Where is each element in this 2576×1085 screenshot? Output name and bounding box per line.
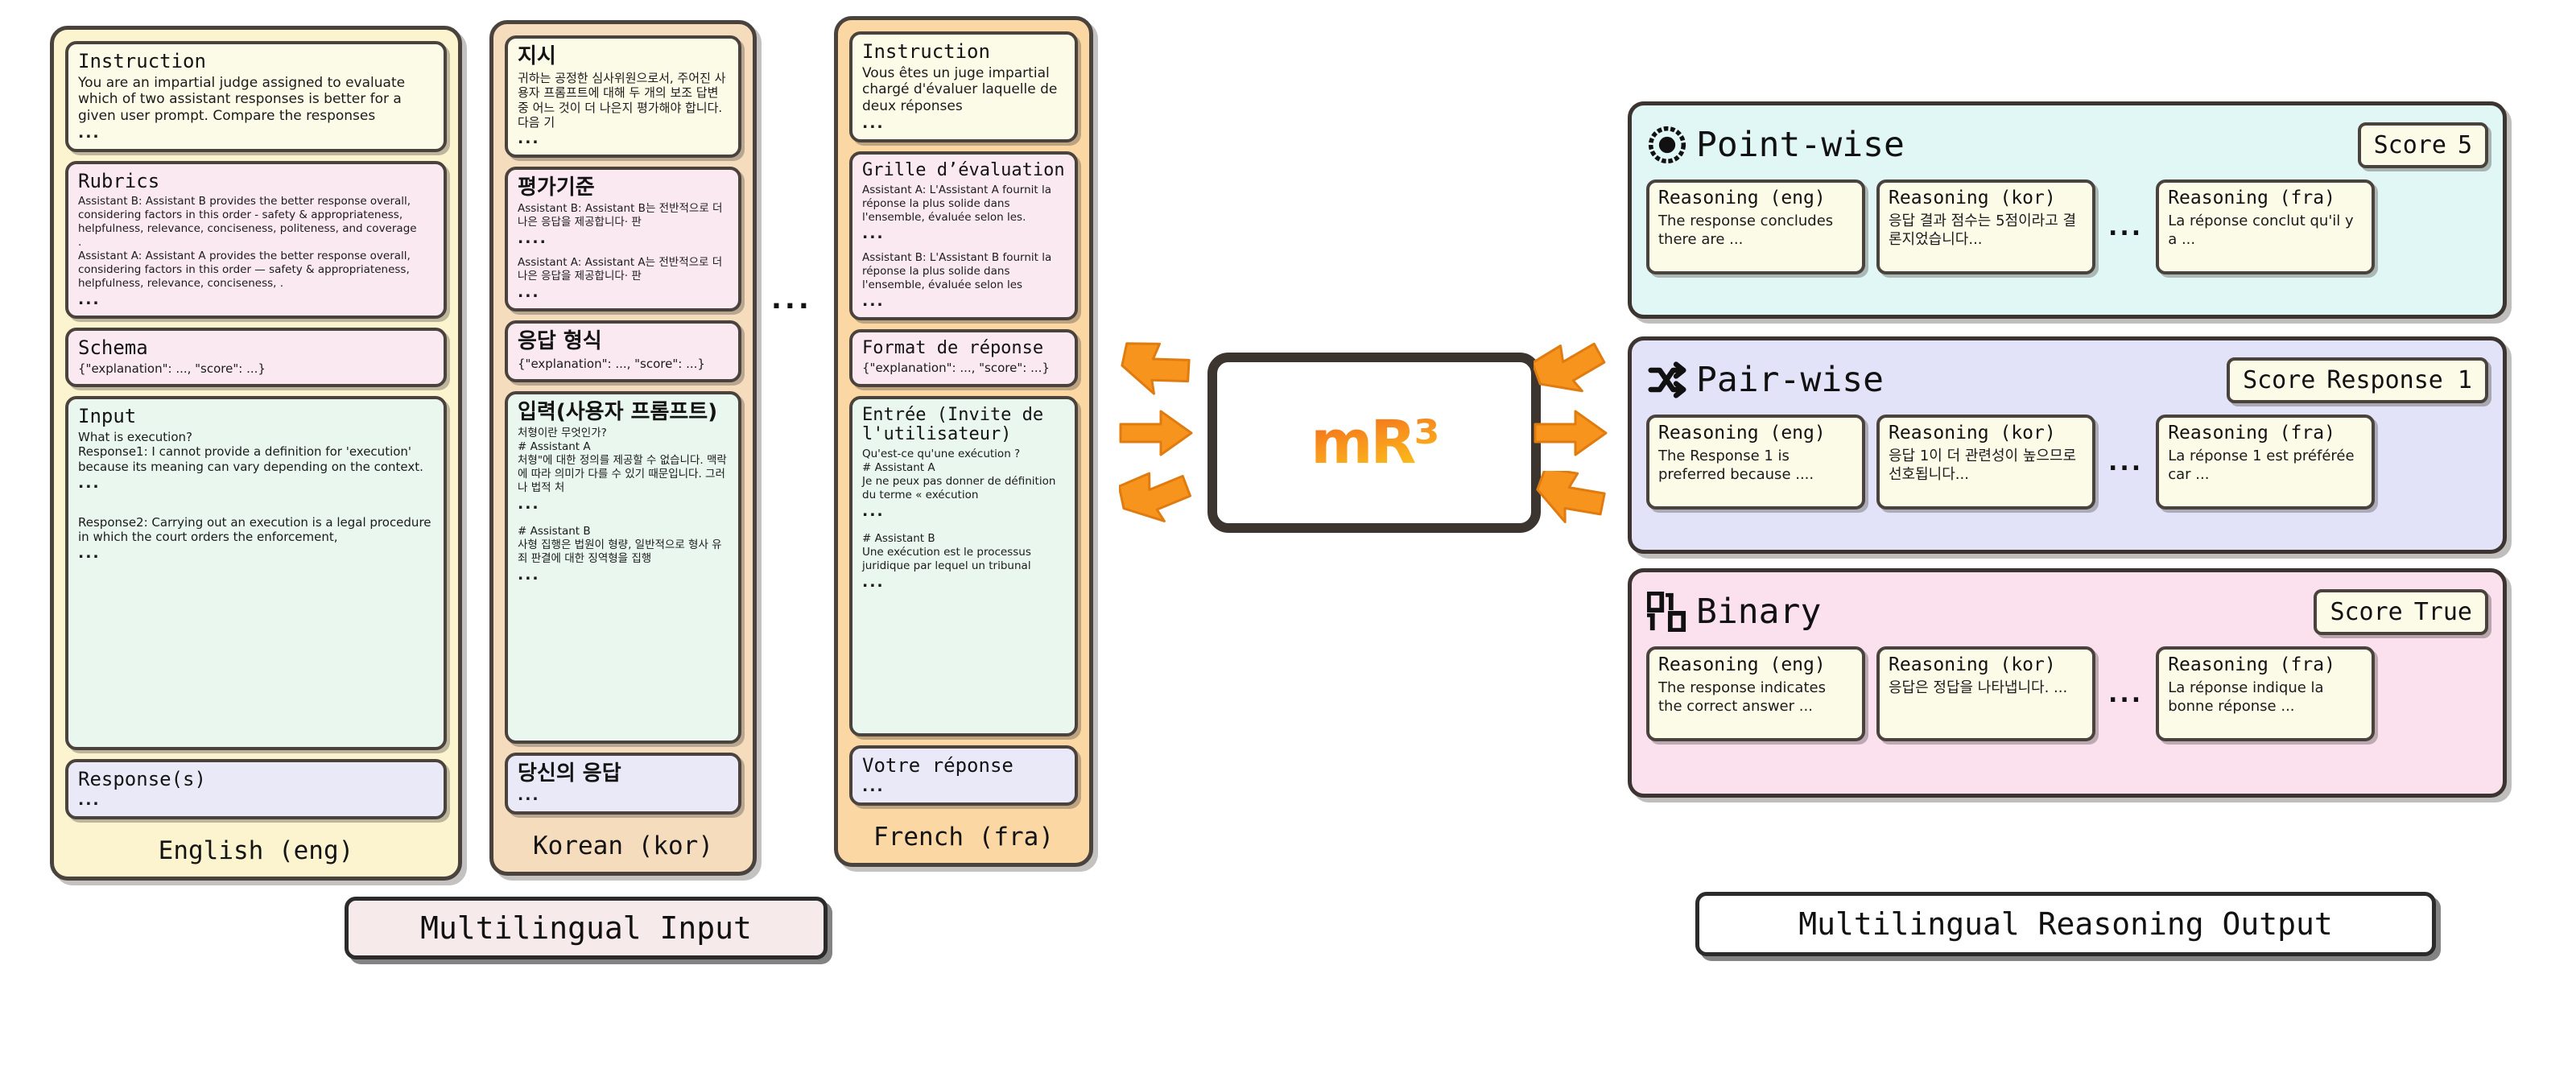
block-body: {"explanation": ..., "score": ...} xyxy=(78,361,434,376)
panel-header: Binary Score True xyxy=(1646,582,2488,642)
reasoning-card-kor[interactable]: Reasoning (kor) 응답 결과 점수는 5점이라고 결론지었습니다.… xyxy=(1876,179,2095,274)
block-ellipsis: ... xyxy=(78,476,434,491)
reasoning-card-row: Reasoning (eng) The response concludes t… xyxy=(1646,179,2488,274)
block-ellipsis: ... xyxy=(862,226,1065,241)
block-title: 평가기준 xyxy=(518,176,729,200)
block-ellipsis: ... xyxy=(78,126,434,141)
score-badge: Score True xyxy=(2314,589,2488,635)
panel-title: Binary xyxy=(1696,592,1821,632)
block-ellipsis: ... xyxy=(78,793,434,808)
input-block-responses-kor[interactable]: 당신의 응답 ... xyxy=(505,753,741,815)
card-body: La réponse 1 est préférée car ... xyxy=(2168,447,2363,484)
block-ellipsis: ... xyxy=(518,497,729,512)
card-title: Reasoning (fra) xyxy=(2168,423,2363,443)
card-title: Reasoning (eng) xyxy=(1658,655,1853,675)
block-body: What is execution? Response1: I cannot p… xyxy=(78,430,434,474)
panel-title: Pair-wise xyxy=(1696,360,1884,400)
block-ellipsis: ... xyxy=(862,779,1065,794)
shuffle-icon xyxy=(1646,359,1688,401)
input-block-input-eng[interactable]: Input What is execution? Response1: I ca… xyxy=(65,396,447,750)
score-label: Score xyxy=(2330,598,2402,626)
card-title: Reasoning (fra) xyxy=(2168,655,2363,675)
cards-ellipsis: ... xyxy=(2107,179,2145,274)
block-ellipsis-2: ... xyxy=(862,575,1065,590)
input-block-input-kor[interactable]: 입력(사용자 프롬프트) 처형이란 무엇인가? # Assistant A 처형… xyxy=(505,391,741,744)
block-body-2: Response2: Carrying out an execution is … xyxy=(78,515,434,545)
card-body: 응답 1이 더 관련성이 높으므로 선호됩니다... xyxy=(1889,447,2083,484)
output-arrow-2 xyxy=(1534,406,1608,460)
block-ellipsis: ... xyxy=(862,504,1065,519)
block-body: {"explanation": ..., "score": ...} xyxy=(862,361,1065,375)
input-block-instruction-kor[interactable]: 지시 귀하는 공정한 심사위원으로서, 주어진 사용자 프롬프트에 대해 두 개… xyxy=(505,35,741,158)
reasoning-card-eng[interactable]: Reasoning (eng) The Response 1 is prefer… xyxy=(1646,415,1865,509)
input-block-instruction-eng[interactable]: Instruction You are an impartial judge a… xyxy=(65,41,447,152)
output-arrow-1 xyxy=(1534,342,1608,395)
card-body: The Response 1 is preferred because .... xyxy=(1658,447,1853,484)
block-body: {"explanation": ..., "score": ...} xyxy=(518,357,729,371)
reasoning-card-kor[interactable]: Reasoning (kor) 응답 1이 더 관련성이 높으므로 선호됩니다.… xyxy=(1876,415,2095,509)
reasoning-card-eng[interactable]: Reasoning (eng) The response concludes t… xyxy=(1646,179,1865,274)
block-body: Assistant B: Assistant B는 전반적으로 더 나은 응답을… xyxy=(518,202,729,229)
block-body-2: Assistant A: Assistant A는 전반적으로 더 나은 응답을… xyxy=(518,256,729,283)
card-title: Reasoning (kor) xyxy=(1889,188,2083,208)
score-value: True xyxy=(2414,598,2472,626)
block-body: Vous êtes un juge impartial chargé d'éva… xyxy=(862,65,1065,114)
input-block-responses-eng[interactable]: Response(s) ... xyxy=(65,759,447,819)
target-dot-icon xyxy=(1646,124,1688,166)
input-block-rubrics-fra[interactable]: Grille d’évaluation Assistant A: L'Assis… xyxy=(849,151,1078,320)
block-ellipsis-2: ... xyxy=(518,285,729,300)
block-title: 지시 xyxy=(518,45,729,68)
input-arrow-2 xyxy=(1119,406,1193,460)
block-title: Instruction xyxy=(862,41,1065,63)
input-block-input-fra[interactable]: Entrée (Invite de l'utilisateur) Qu'est-… xyxy=(849,396,1078,737)
card-body: 응답은 정답을 나타냅니다. ... xyxy=(1889,679,2083,697)
panel-header: Pair-wise Score Response 1 xyxy=(1646,350,2488,410)
cards-ellipsis: ... xyxy=(2107,415,2145,509)
reasoning-card-eng[interactable]: Reasoning (eng) The response indicates t… xyxy=(1646,646,1865,741)
input-arrow-1 xyxy=(1119,342,1193,395)
block-ellipsis-2: ... xyxy=(518,567,729,583)
input-block-rubrics-kor[interactable]: 평가기준 Assistant B: Assistant B는 전반적으로 더 나… xyxy=(505,167,741,311)
block-body: 처형이란 무엇인가? # Assistant A 처형"에 대한 정의를 제공할… xyxy=(518,427,729,495)
block-ellipsis: ... xyxy=(78,292,434,307)
reasoning-card-row: Reasoning (eng) The Response 1 is prefer… xyxy=(1646,415,2488,509)
output-arrow-3 xyxy=(1534,471,1608,524)
block-body: 귀하는 공정한 심사위원으로서, 주어진 사용자 프롬프트에 대해 두 개의 보… xyxy=(518,71,729,130)
block-title: Instruction xyxy=(78,51,434,72)
output-panel-pair-wise[interactable]: Pair-wise Score Response 1 Reasoning (en… xyxy=(1628,336,2507,554)
language-label-eng: English (eng) xyxy=(65,828,447,870)
panel-header: Point-wise Score 5 xyxy=(1646,115,2488,175)
language-label-kor: Korean (kor) xyxy=(505,823,741,865)
reasoning-card-kor[interactable]: Reasoning (kor) 응답은 정답을 나타냅니다. ... xyxy=(1876,646,2095,741)
output-panel-point-wise[interactable]: Point-wise Score 5 Reasoning (eng) The r… xyxy=(1628,101,2507,319)
block-title: 응답 형식 xyxy=(518,330,729,353)
block-ellipsis: ... xyxy=(518,131,729,146)
block-body: Assistant B: Assistant B provides the be… xyxy=(78,195,434,291)
card-title: Reasoning (kor) xyxy=(1889,655,2083,675)
block-title: Rubrics xyxy=(78,171,434,192)
binary-digits-icon xyxy=(1646,591,1688,633)
card-body: The response concludes there are ... xyxy=(1658,212,1853,249)
block-title: Format de réponse xyxy=(862,339,1065,359)
language-label-fra: French (fra) xyxy=(849,815,1078,856)
block-title: Input xyxy=(78,406,434,427)
card-body: 응답 결과 점수는 5점이라고 결론지었습니다... xyxy=(1889,212,2083,249)
card-title: Reasoning (eng) xyxy=(1658,423,1853,443)
reasoning-card-row: Reasoning (eng) The response indicates t… xyxy=(1646,646,2488,741)
block-ellipsis-2: ... xyxy=(862,294,1065,309)
reasoning-card-fra[interactable]: Reasoning (fra) La réponse conclut qu'il… xyxy=(2156,179,2375,274)
block-body-2: # Assistant B 사형 집행은 법원이 형량, 일반적으로 형사 유죄… xyxy=(518,525,729,566)
language-column-eng[interactable]: Instruction You are an impartial judge a… xyxy=(50,26,462,881)
caption-multilingual-input: Multilingual Input xyxy=(345,897,828,959)
card-title: Reasoning (fra) xyxy=(2168,188,2363,208)
block-ellipsis: ... xyxy=(862,116,1065,131)
input-block-schema-fra[interactable]: Format de réponse {"explanation": ..., "… xyxy=(849,329,1078,387)
block-body: Qu'est-ce qu'une exécution ? # Assistant… xyxy=(862,448,1065,502)
output-panel-binary[interactable]: Binary Score True Reasoning (eng) The re… xyxy=(1628,568,2507,798)
reasoning-card-fra[interactable]: Reasoning (fra) La réponse indique la bo… xyxy=(2156,646,2375,741)
score-badge: Score 5 xyxy=(2358,122,2488,168)
mr3-logo: mR³ xyxy=(1311,408,1438,477)
input-block-schema-eng[interactable]: Schema {"explanation": ..., "score": ...… xyxy=(65,328,447,387)
caption-multilingual-reasoning-output: Multilingual Reasoning Output xyxy=(1695,892,2436,956)
card-body: The response indicates the correct answe… xyxy=(1658,679,1853,716)
score-label: Score xyxy=(2374,131,2446,159)
block-body-2: Assistant B: L'Assistant B fournit la ré… xyxy=(862,251,1065,292)
score-value: Response 1 xyxy=(2326,366,2472,394)
block-ellipsis: ... xyxy=(518,788,729,803)
score-value: 5 xyxy=(2458,131,2472,159)
block-title: Grille d’évaluation xyxy=(862,161,1065,181)
reasoning-card-fra[interactable]: Reasoning (fra) La réponse 1 est préféré… xyxy=(2156,415,2375,509)
language-column-kor[interactable]: 지시 귀하는 공정한 심사위원으로서, 주어진 사용자 프롬프트에 대해 두 개… xyxy=(489,20,757,876)
card-body: La réponse conclut qu'il y a ... xyxy=(2168,212,2363,249)
card-title: Reasoning (kor) xyxy=(1889,423,2083,443)
block-body-2: # Assistant B Une exécution est le proce… xyxy=(862,532,1065,573)
block-ellipsis-2: ... xyxy=(78,546,434,561)
model-box[interactable]: mR³ xyxy=(1207,353,1541,533)
input-block-instruction-fra[interactable]: Instruction Vous êtes un juge impartial … xyxy=(849,31,1078,142)
block-title: 당신의 응답 xyxy=(518,762,729,786)
block-body: Assistant A: L'Assistant A fournit la ré… xyxy=(862,184,1065,225)
input-block-rubrics-eng[interactable]: Rubrics Assistant B: Assistant B provide… xyxy=(65,161,447,319)
card-body: La réponse indique la bonne réponse ... xyxy=(2168,679,2363,716)
panel-title: Point-wise xyxy=(1696,125,1905,165)
cards-ellipsis: ... xyxy=(2107,646,2145,741)
score-label: Score xyxy=(2243,366,2315,394)
block-body: You are an impartial judge assigned to e… xyxy=(78,75,434,124)
block-title: Entrée (Invite de l'utilisateur) xyxy=(862,406,1065,445)
block-title: Votre réponse xyxy=(862,755,1065,777)
block-ellipsis: .... xyxy=(518,231,729,246)
input-arrow-3 xyxy=(1119,471,1193,524)
columns-ellipsis: ... xyxy=(771,283,812,316)
block-title: 입력(사용자 프롬프트) xyxy=(518,401,729,424)
block-title: Response(s) xyxy=(78,769,434,790)
card-title: Reasoning (eng) xyxy=(1658,188,1853,208)
multilingual-input-area: Instruction You are an impartial judge a… xyxy=(0,0,1127,901)
score-badge: Score Response 1 xyxy=(2227,357,2488,403)
language-column-fra[interactable]: Instruction Vous êtes un juge impartial … xyxy=(834,16,1093,867)
input-block-schema-kor[interactable]: 응답 형식 {"explanation": ..., "score": ...} xyxy=(505,320,741,382)
block-title: Schema xyxy=(78,337,434,359)
input-block-responses-fra[interactable]: Votre réponse ... xyxy=(849,745,1078,806)
